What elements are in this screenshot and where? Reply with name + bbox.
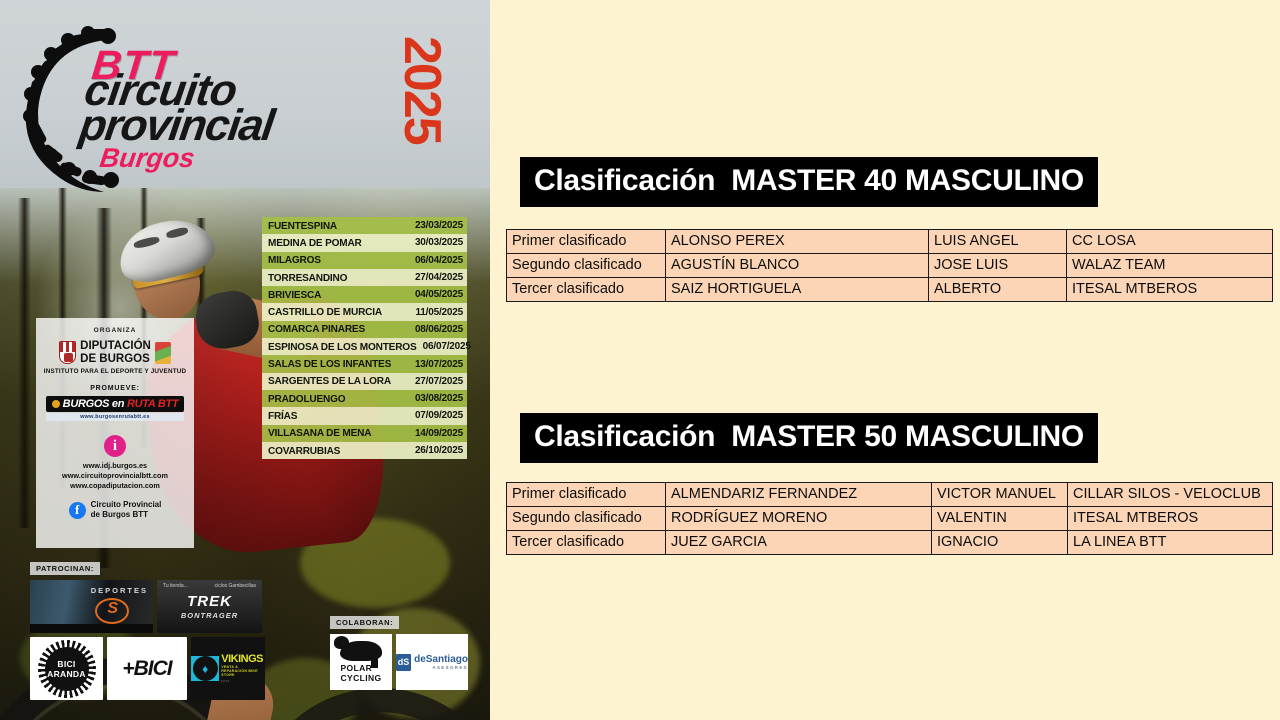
url-1[interactable]: www.idj.burgos.es	[40, 461, 190, 471]
calendar-date: 06/07/2025	[423, 341, 471, 352]
deportes-mark: S	[107, 600, 118, 618]
results-panel: Clasificación MASTER 40 MASCULINO Primer…	[490, 0, 1280, 720]
position-cell: Segundo clasificado	[507, 507, 666, 531]
url-2[interactable]: www.circuitoprovincialbtt.com	[40, 471, 190, 481]
bear-icon	[340, 641, 382, 661]
trek-top-line: Tu tienda... ciclos Gambecillas	[163, 583, 256, 589]
results-table-master50: Primer clasificado ALMENDARIZ FERNANDEZ …	[506, 482, 1273, 555]
firstname-cell: JOSE LUIS	[929, 254, 1067, 278]
surname-cell: AGUSTÍN BLANCO	[666, 254, 929, 278]
calendar-row: SARGENTES DE LA LORA27/07/2025	[262, 373, 467, 390]
viking-helmet-icon: ♦	[193, 656, 218, 681]
calendar-town: MEDINA DE POMAR	[268, 237, 362, 249]
team-cell: LA LINEA BTT	[1068, 531, 1273, 555]
surname-cell: SAIZ HORTIGUELA	[666, 278, 929, 302]
calendar-date: 08/06/2025	[415, 324, 463, 335]
calendar-row: PRADOLUENGO03/08/2025	[262, 390, 467, 407]
calendar-row: BRIVIESCA04/05/2025	[262, 286, 467, 303]
aranda-line1: BICI	[57, 659, 75, 669]
aranda-line2: ARANDA	[47, 669, 86, 679]
calendar-date: 03/08/2025	[415, 393, 463, 404]
team-cell: CC LOSA	[1067, 230, 1273, 254]
calendar-town: COMARCA PINARES	[268, 323, 365, 335]
trek-shop-label: Tu tienda...	[163, 583, 188, 589]
calendar-date: 14/09/2025	[415, 428, 463, 439]
title2-category: MASTER 50 MASCULINO	[731, 420, 1084, 453]
calendar-row: VILLASANA DE MENA14/09/2025	[262, 425, 467, 442]
vikings-text-panel: VIKINGS VENTA & REPARACIÓN BIKE STORE • …	[219, 650, 265, 688]
position-cell: Tercer clasificado	[507, 531, 666, 555]
calendar-row: MILAGROS06/04/2025	[262, 252, 467, 269]
circuit-logo: BTT circuito provincial Burgos 2025	[0, 0, 490, 196]
calendar-town: SALAS DE LOS INFANTES	[268, 358, 391, 370]
desantiago-text: deSantiago ASESORES	[414, 655, 468, 670]
team-cell: ITESAL MTBEROS	[1068, 507, 1273, 531]
collaborator-polar-cycling-logo: POLAR CYCLING	[330, 634, 392, 690]
ruta-word-rutabtt: RUTA BTT	[127, 398, 178, 410]
collaborators-block: COLABORAN: POLAR CYCLING dS deSantiago A…	[330, 612, 480, 690]
trek-name: TREK	[181, 593, 238, 610]
calendar-row: CASTRILLO DE MURCIA11/05/2025	[262, 303, 467, 320]
team-cell: CILLAR SILOS - VELOCLUB	[1068, 483, 1273, 507]
calendar-date: 06/04/2025	[415, 255, 463, 266]
logo-year-text: 2025	[392, 36, 452, 144]
trek-names: TREK BONTRAGER	[181, 593, 238, 620]
calendar-row: MEDINA DE POMAR30/03/2025	[262, 234, 467, 251]
aranda-inner: BICI ARANDA	[45, 647, 89, 691]
calendar-town: MILAGROS	[268, 254, 321, 266]
calendar-date: 27/04/2025	[415, 272, 463, 283]
facebook-page-name: Circuito Provincial de Burgos BTT	[91, 500, 162, 520]
vikings-name: VIKINGS	[221, 654, 263, 665]
results-table-master40: Primer clasificado ALONSO PEREX LUIS ANG…	[506, 229, 1273, 302]
burgos-en-ruta-logo: BURGOS en RUTA BTT	[46, 396, 184, 412]
calendar-row: COMARCA PINARES08/06/2025	[262, 321, 467, 338]
ruta-word-burgos: BURGOS	[63, 398, 109, 410]
organizer-card: ORGANIZA DIPUTACIÓN DE BURGOS INSTITUTO …	[36, 318, 194, 548]
calendar-date: 11/05/2025	[416, 307, 464, 318]
diputacion-block: DIPUTACIÓN DE BURGOS	[40, 340, 190, 365]
patrocinan-label: PATROCINAN:	[30, 562, 100, 575]
sponsor-deportes-logo: DEPORTES S	[30, 580, 153, 633]
calendar-town: BRIVIESCA	[268, 289, 321, 301]
diputacion-name: DIPUTACIÓN DE BURGOS	[80, 340, 151, 365]
ruta-text: BURGOS en RUTA BTT	[63, 398, 179, 410]
section-title-master50: Clasificación MASTER 50 MASCULINO	[520, 413, 1098, 463]
sponsor-masbici-logo: +BICI	[107, 637, 187, 700]
firstname-cell: ALBERTO	[929, 278, 1067, 302]
logo-burgos-text: Burgos	[98, 143, 197, 174]
ruta-word-en: en	[112, 398, 124, 410]
event-poster: BTT circuito provincial Burgos 2025 FUEN…	[0, 0, 490, 720]
promueve-label: PROMUEVE:	[40, 385, 190, 392]
surname-cell: ALONSO PEREX	[666, 230, 929, 254]
deportes-footer-bar	[30, 624, 153, 633]
facebook-line1: Circuito Provincial	[91, 500, 162, 510]
calendar-date: 26/10/2025	[415, 445, 463, 456]
calendar-town: FUENTESPINA	[268, 220, 337, 232]
calendar-town: ESPINOSA DE LOS MONTEROS	[268, 341, 416, 353]
instituto-label: INSTITUTO PARA EL DEPORTE Y JUVENTUD	[40, 368, 190, 375]
calendar-town: PRADOLUENGO	[268, 393, 345, 405]
masbici-name: +BICI	[122, 657, 171, 681]
collaborator-desantiago-logo: dS deSantiago ASESORES	[396, 634, 468, 690]
calendar-date: 23/03/2025	[415, 220, 463, 231]
calendar-date: 13/07/2025	[415, 359, 463, 370]
table-row: Segundo clasificado AGUSTÍN BLANCO JOSE …	[507, 254, 1273, 278]
chainring-icon: BICI ARANDA	[38, 640, 96, 698]
calendar-row: TORRESANDINO27/04/2025	[262, 269, 467, 286]
team-cell: WALAZ TEAM	[1067, 254, 1273, 278]
calendar-row: SALAS DE LOS INFANTES13/07/2025	[262, 355, 467, 372]
surname-cell: JUEZ GARCIA	[666, 531, 932, 555]
calendar-row: COVARRUBIAS26/10/2025	[262, 442, 467, 459]
calendar-date: 27/07/2025	[415, 376, 463, 387]
firstname-cell: LUIS ANGEL	[929, 230, 1067, 254]
vikings-bullets: • • • •	[221, 679, 263, 684]
calendar-town: SARGENTES DE LA LORA	[268, 375, 391, 387]
sponsor-trek-logo: Tu tienda... ciclos Gambecillas TREK BON…	[157, 580, 262, 633]
url-3[interactable]: www.copadiputacion.com	[40, 481, 190, 491]
polar-line2: CYCLING	[340, 674, 381, 684]
table-row: Primer clasificado ALMENDARIZ FERNANDEZ …	[507, 483, 1273, 507]
sponsors-block: PATROCINAN: DEPORTES S Tu tienda... cicl…	[30, 558, 265, 700]
trek-shop-name: ciclos Gambecillas	[215, 583, 256, 589]
position-cell: Tercer clasificado	[507, 278, 666, 302]
diputacion-line1: DIPUTACIÓN	[80, 340, 151, 353]
deportes-text: DEPORTES	[91, 586, 148, 595]
firstname-cell: IGNACIO	[932, 531, 1068, 555]
logo-provincial-text: provincial	[77, 107, 275, 145]
vikings-sub: VENTA & REPARACIÓN BIKE STORE	[221, 665, 263, 677]
organiza-label: ORGANIZA	[40, 327, 190, 334]
firstname-cell: VICTOR MANUEL	[932, 483, 1068, 507]
colaboran-label: COLABORAN:	[330, 616, 399, 629]
slide-root: BTT circuito provincial Burgos 2025 FUEN…	[0, 0, 1280, 720]
ruta-dot-icon	[52, 400, 60, 408]
desantiago-mark-icon: dS	[396, 654, 411, 671]
position-cell: Primer clasificado	[507, 230, 666, 254]
surname-cell: RODRÍGUEZ MORENO	[666, 507, 932, 531]
calendar-town: CASTRILLO DE MURCIA	[268, 306, 382, 318]
calendar-row: FRÍAS07/09/2025	[262, 407, 467, 424]
surname-cell: ALMENDARIZ FERNANDEZ	[666, 483, 932, 507]
desantiago-name: deSantiago	[414, 655, 468, 665]
facebook-block[interactable]: f Circuito Provincial de Burgos BTT	[40, 500, 190, 520]
title1-category: MASTER 40 MASCULINO	[731, 164, 1084, 197]
sponsor-bici-aranda-logo: BICI ARANDA	[30, 637, 103, 700]
calendar-town: VILLASANA DE MENA	[268, 427, 371, 439]
ruta-url: www.burgosenrutabtt.es	[46, 413, 184, 421]
position-cell: Primer clasificado	[507, 483, 666, 507]
team-cell: ITESAL MTBEROS	[1067, 278, 1273, 302]
table-row: Tercer clasificado SAIZ HORTIGUELA ALBER…	[507, 278, 1273, 302]
table-row: Segundo clasificado RODRÍGUEZ MORENO VAL…	[507, 507, 1273, 531]
vikings-icon-panel: ♦	[191, 656, 219, 681]
facebook-line2: de Burgos BTT	[91, 510, 162, 520]
race-calendar: FUENTESPINA23/03/2025MEDINA DE POMAR30/0…	[262, 217, 467, 459]
calendar-row: ESPINOSA DE LOS MONTEROS06/07/2025	[262, 338, 467, 355]
calendar-row: FUENTESPINA23/03/2025	[262, 217, 467, 234]
calendar-town: COVARRUBIAS	[268, 445, 340, 457]
position-cell: Segundo clasificado	[507, 254, 666, 278]
table-row: Primer clasificado ALONSO PEREX LUIS ANG…	[507, 230, 1273, 254]
table-row: Tercer clasificado JUEZ GARCIA IGNACIO L…	[507, 531, 1273, 555]
calendar-date: 30/03/2025	[415, 237, 463, 248]
section-title-master40: Clasificación MASTER 40 MASCULINO	[520, 157, 1098, 207]
calendar-town: TORRESANDINO	[268, 272, 347, 284]
title1-prefix: Clasificación	[534, 164, 715, 197]
info-icon: i	[104, 435, 126, 457]
desantiago-sub: ASESORES	[414, 665, 468, 670]
bontrager-name: BONTRAGER	[181, 611, 238, 620]
facebook-icon: f	[69, 502, 86, 519]
calendar-town: FRÍAS	[268, 410, 297, 422]
firstname-cell: VALENTIN	[932, 507, 1068, 531]
calendar-date: 07/09/2025	[415, 410, 463, 421]
title2-prefix: Clasificación	[534, 420, 715, 453]
burgos-coat-of-arms-icon	[59, 341, 76, 364]
diputacion-mark-icon	[155, 342, 171, 364]
sponsor-vikings-logo: ♦ VIKINGS VENTA & REPARACIÓN BIKE STORE …	[191, 637, 265, 700]
diputacion-line2: DE BURGOS	[80, 353, 151, 366]
calendar-date: 04/05/2025	[415, 289, 463, 300]
